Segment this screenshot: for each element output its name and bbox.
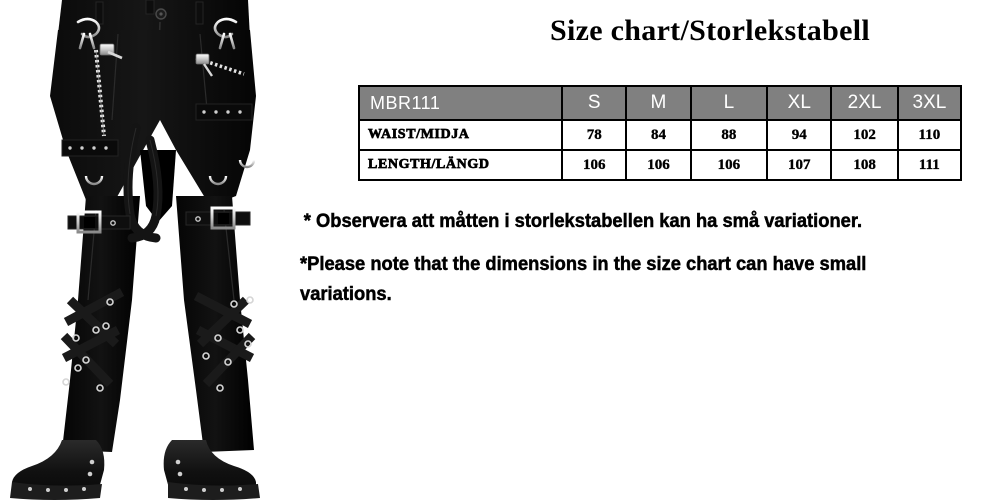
table-header-row: MBR111 S M L XL 2XL 3XL — [359, 86, 961, 120]
waist-m: 84 — [626, 120, 690, 150]
size-header-l: L — [691, 86, 768, 120]
table-row: WAIST/MIDJA 78 84 88 94 102 110 — [359, 120, 961, 150]
length-s: 106 — [562, 150, 626, 180]
row-label-length: LENGTH/LÄNGD — [359, 150, 562, 180]
note-swedish: * Observera att måtten i storlekstabelle… — [300, 206, 939, 236]
waist-xl: 94 — [767, 120, 831, 150]
length-m: 106 — [626, 150, 690, 180]
size-header-2xl: 2XL — [831, 86, 897, 120]
waist-2xl: 102 — [831, 120, 897, 150]
waist-l: 88 — [691, 120, 768, 150]
size-header-m: M — [626, 86, 690, 120]
product-image — [0, 0, 300, 500]
size-chart-table: MBR111 S M L XL 2XL 3XL WAIST/MIDJA 78 8… — [358, 85, 962, 181]
size-header-xl: XL — [767, 86, 831, 120]
length-l: 106 — [691, 150, 768, 180]
size-header-s: S — [562, 86, 626, 120]
table-row: LENGTH/LÄNGD 106 106 106 107 108 111 — [359, 150, 961, 180]
waist-s: 78 — [562, 120, 626, 150]
size-header-3xl: 3XL — [898, 86, 961, 120]
note-english: *Please note that the dimensions in the … — [300, 249, 939, 309]
waist-3xl: 110 — [898, 120, 961, 150]
length-xl: 107 — [767, 150, 831, 180]
row-label-waist: WAIST/MIDJA — [359, 120, 562, 150]
length-3xl: 111 — [898, 150, 961, 180]
model-code: MBR111 — [359, 86, 562, 120]
page-title: Size chart/Storlekstabell — [470, 14, 950, 48]
length-2xl: 108 — [831, 150, 897, 180]
notes-block: * Observera att måtten i storlekstabelle… — [300, 206, 980, 309]
